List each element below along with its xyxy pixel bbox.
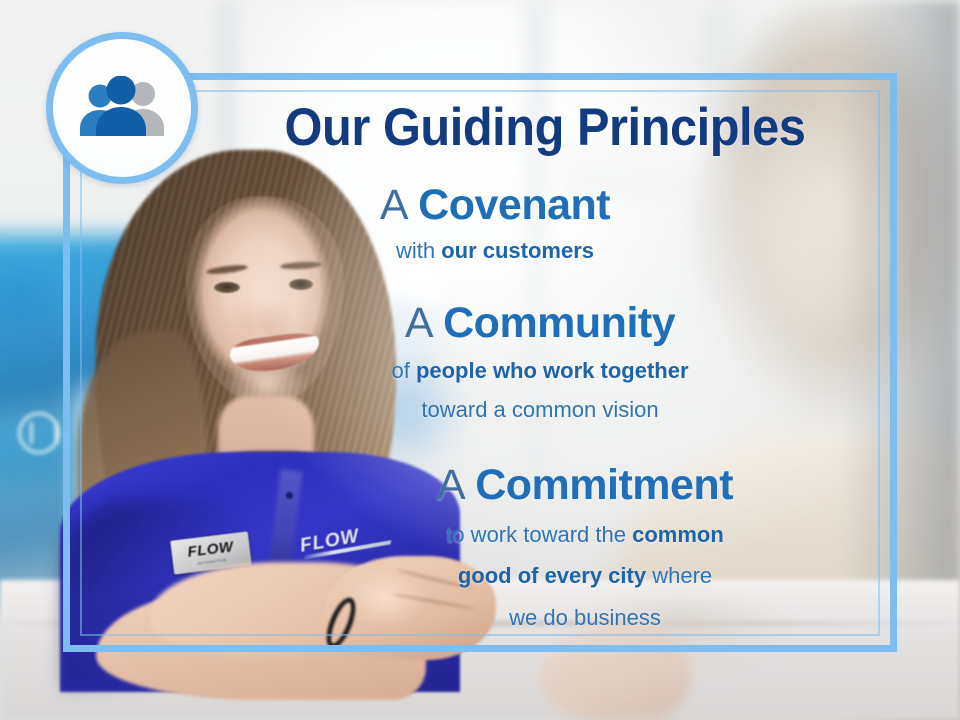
principle-community-detail-line: of people who work together bbox=[200, 356, 880, 385]
principle-community-heading: A Community bbox=[200, 300, 880, 346]
principle-commitment-detail-line: to work toward the common bbox=[290, 520, 880, 549]
principle-covenant-heading: A Covenant bbox=[110, 182, 880, 228]
principle-article: A bbox=[405, 299, 431, 347]
detail-text: to work toward the bbox=[446, 522, 632, 547]
page-title: Our Guiding Principles bbox=[251, 100, 840, 156]
principle-commitment-heading: A Commitment bbox=[290, 462, 880, 508]
principles-content: Our Guiding Principles A Covenant with o… bbox=[80, 90, 880, 636]
principle-commitment: A Commitment to work toward the common g… bbox=[80, 462, 880, 632]
principle-keyword: Community bbox=[443, 299, 675, 347]
detail-text-bold: common bbox=[632, 522, 724, 547]
principle-community-detail-line: toward a common vision bbox=[200, 395, 880, 424]
detail-text-bold: people who work together bbox=[416, 358, 689, 383]
detail-text: of bbox=[391, 358, 415, 383]
principle-covenant: A Covenant with our customers bbox=[80, 182, 880, 265]
principle-covenant-detail-line: with our customers bbox=[110, 236, 880, 265]
principle-community: A Community of people who work together … bbox=[80, 300, 880, 425]
principle-article: A bbox=[437, 461, 463, 509]
blurred-vehicle-logo bbox=[18, 412, 60, 454]
detail-text: with bbox=[396, 238, 441, 263]
principle-article: A bbox=[380, 181, 406, 229]
detail-text-bold: good of every city bbox=[458, 563, 646, 588]
detail-text: where bbox=[646, 563, 712, 588]
principle-keyword: Commitment bbox=[475, 461, 733, 509]
detail-text-bold: our customers bbox=[441, 238, 594, 263]
principle-commitment-detail-line: we do business bbox=[290, 603, 880, 632]
guiding-principles-graphic: FLOW AUTOMOTIVE FLOW bbox=[0, 0, 960, 720]
principle-commitment-detail-line: good of every city where bbox=[290, 561, 880, 590]
principle-keyword: Covenant bbox=[418, 181, 610, 229]
